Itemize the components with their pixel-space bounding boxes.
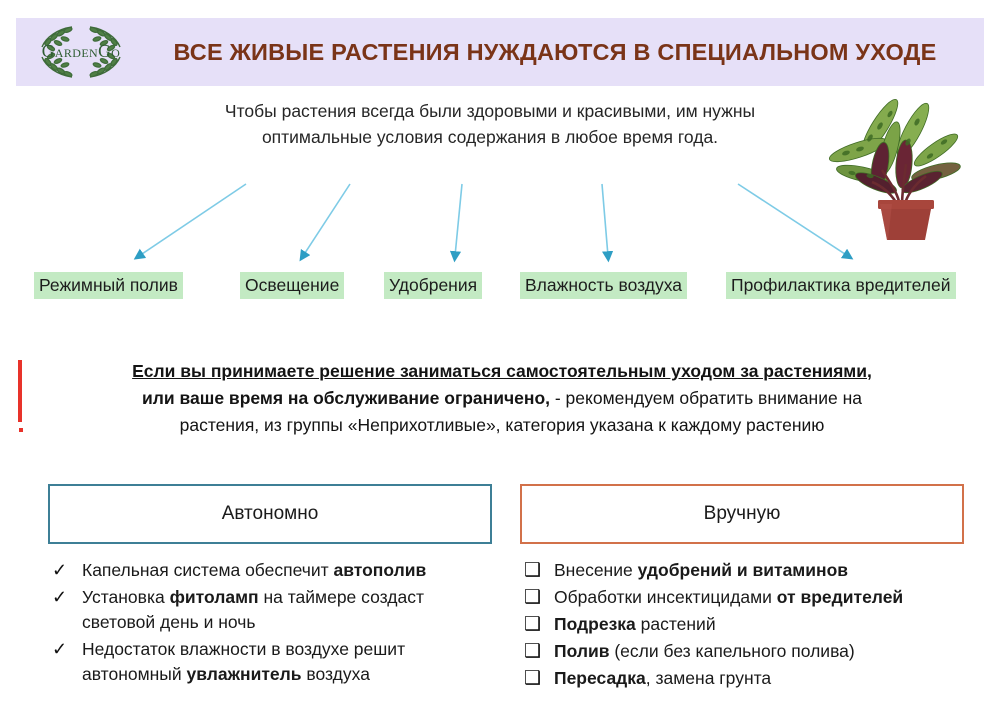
arrow-4 [602, 184, 608, 256]
list-item-text: Недостаток влажности в воздухе решит авт… [82, 637, 500, 687]
check-icon: ✓ [48, 558, 82, 583]
list-item-text: Обработки инсектицидами от вредителей [554, 585, 980, 610]
list-item-text: Полив (если без капельного полива) [554, 639, 980, 664]
callout-dot [19, 428, 23, 432]
autonomous-list: ✓ Капельная система обеспечит автополив … [48, 558, 500, 689]
care-tags-row: Режимный полив Освещение Удобрения Влажн… [0, 272, 1000, 300]
care-tag-pests[interactable]: Профилактика вредителей [726, 272, 956, 299]
header-band: GardenGo ВСЕ ЖИВЫЕ РАСТЕНИЯ НУЖДАЮТСЯ В … [16, 18, 984, 86]
laurel-wreath-icon: GardenGo [22, 21, 140, 83]
care-tag-humidity[interactable]: Влажность воздуха [520, 272, 687, 299]
list-item-text: Подрезка растений [554, 612, 980, 637]
callout-bold-underline: Если вы принимаете решение заниматься са… [132, 361, 872, 381]
option-title-manual: Вручную [704, 503, 781, 525]
manual-list: ❑ Внесение удобрений и витаминов ❑ Обраб… [520, 558, 980, 693]
list-item[interactable]: ❑ Обработки инсектицидами от вредителей [520, 585, 980, 610]
callout-bold: или ваше время на обслуживание ограничен… [142, 388, 550, 408]
list-item[interactable]: ❑ Полив (если без капельного полива) [520, 639, 980, 664]
list-item[interactable]: ❑ Пересадка, замена грунта [520, 666, 980, 691]
check-icon: ✓ [48, 637, 82, 662]
care-tag-fertilizer[interactable]: Удобрения [384, 272, 482, 299]
checkbox-icon[interactable]: ❑ [520, 558, 554, 583]
checkbox-icon[interactable]: ❑ [520, 666, 554, 691]
callout-block: Если вы принимаете решение заниматься са… [18, 358, 982, 439]
checkbox-icon[interactable]: ❑ [520, 612, 554, 637]
callout-rest-2: растения, из группы «Неприхотливые», кат… [180, 415, 825, 435]
page-title: ВСЕ ЖИВЫЕ РАСТЕНИЯ НУЖДАЮТСЯ В СПЕЦИАЛЬН… [146, 39, 984, 66]
list-item[interactable]: ✓ Установка фитоламп на таймере создаст … [48, 585, 500, 635]
list-item[interactable]: ❑ Подрезка растений [520, 612, 980, 637]
option-box-manual[interactable]: Вручную [520, 484, 964, 544]
option-box-autonomous[interactable]: Автономно [48, 484, 492, 544]
potted-plant-photo [818, 88, 988, 243]
intro-paragraph: Чтобы растения всегда были здоровыми и к… [165, 98, 815, 151]
arrow-2 [303, 184, 350, 256]
slide-canvas: GardenGo ВСЕ ЖИВЫЕ РАСТЕНИЯ НУЖДАЮТСЯ В … [0, 0, 1000, 724]
brand-logo: GardenGo [16, 18, 146, 86]
intro-line-2: оптимальные условия содержания в любое в… [262, 127, 718, 147]
callout-text: Если вы принимаете решение заниматься са… [22, 358, 982, 439]
care-tag-watering[interactable]: Режимный полив [34, 272, 183, 299]
intro-line-1: Чтобы растения всегда были здоровыми и к… [225, 101, 755, 121]
option-title-autonomous: Автономно [222, 503, 319, 525]
logo-wordmark: GardenGo [42, 41, 120, 61]
check-icon: ✓ [48, 585, 82, 610]
list-item[interactable]: ✓ Недостаток влажности в воздухе решит а… [48, 637, 500, 687]
checkbox-icon[interactable]: ❑ [520, 585, 554, 610]
checkbox-icon[interactable]: ❑ [520, 639, 554, 664]
list-item-text: Установка фитоламп на таймере создаст св… [82, 585, 500, 635]
list-item[interactable]: ✓ Капельная система обеспечит автополив [48, 558, 500, 583]
arrow-1 [139, 184, 246, 256]
arrow-3 [455, 184, 462, 256]
care-tag-lighting[interactable]: Освещение [240, 272, 344, 299]
list-item-text: Внесение удобрений и витаминов [554, 558, 980, 583]
callout-rest-1: - рекомендуем обратить внимание на [550, 388, 862, 408]
list-item-text: Капельная система обеспечит автополив [82, 558, 500, 583]
list-item-text: Пересадка, замена грунта [554, 666, 980, 691]
list-item[interactable]: ❑ Внесение удобрений и витаминов [520, 558, 980, 583]
